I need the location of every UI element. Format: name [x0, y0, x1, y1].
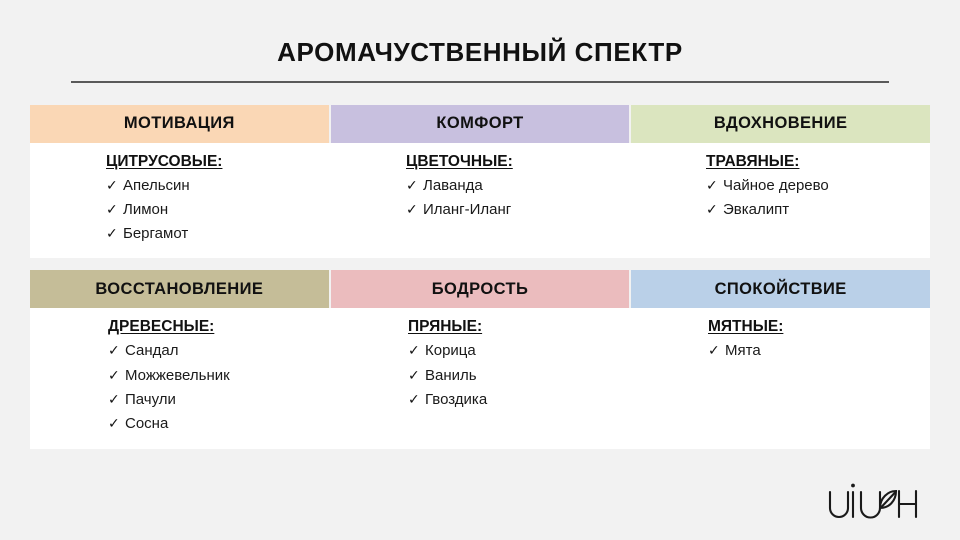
check-icon: ✓: [108, 416, 125, 430]
scent-name: Лимон: [123, 198, 168, 222]
list-item: ✓ Чайное дерево: [706, 174, 930, 198]
category-header-calm[interactable]: СПОКОЙСТВИЕ: [631, 270, 930, 308]
list-item: ✓ Мята: [708, 339, 930, 363]
scent-name: Апельсин: [123, 174, 190, 198]
scent-name: Лаванда: [423, 174, 483, 198]
list-item: ✓ Гвоздика: [408, 388, 630, 412]
category-title-recovery: ВОССТАНОВЛЕНИЕ: [95, 280, 263, 299]
check-icon: ✓: [706, 202, 723, 216]
list-item: ✓ Сандал: [108, 339, 330, 363]
scent-name: Гвоздика: [425, 388, 487, 412]
scent-name: Корица: [425, 339, 476, 363]
check-icon: ✓: [408, 392, 425, 406]
category-body-vigor: ПРЯНЫЕ: ✓ Корица ✓ Ваниль ✓ Гвоздика: [330, 308, 630, 448]
category-body-calm: МЯТНЫЕ: ✓ Мята: [630, 308, 930, 448]
scent-list-vigor: ✓ Корица ✓ Ваниль ✓ Гвоздика: [408, 339, 630, 412]
list-item: ✓ Можжевельник: [108, 364, 330, 388]
scent-name: Сосна: [125, 412, 168, 436]
check-icon: ✓: [106, 178, 123, 192]
family-label-vigor: ПРЯНЫЕ:: [408, 318, 482, 336]
scent-name: Пачули: [125, 388, 176, 412]
scent-name: Эвкалипт: [723, 198, 789, 222]
list-item: ✓ Сосна: [108, 412, 330, 436]
category-header-inspiration[interactable]: ВДОХНОВЕНИЕ: [631, 105, 930, 143]
scent-name: Мята: [725, 339, 761, 363]
category-band-row-1: МОТИВАЦИЯ КОМФОРТ ВДОХНОВЕНИЕ ЦИТРУСОВЫЕ…: [30, 105, 930, 259]
check-icon: ✓: [406, 202, 423, 216]
list-item: ✓ Иланг-Иланг: [406, 198, 630, 222]
check-icon: ✓: [708, 343, 725, 357]
category-title-vigor: БОДРОСТЬ: [432, 280, 529, 299]
check-icon: ✓: [108, 343, 125, 357]
category-band-row-2: ВОССТАНОВЛЕНИЕ БОДРОСТЬ СПОКОЙСТВИЕ ДРЕВ…: [30, 270, 930, 448]
jiah-logo-icon: [820, 478, 938, 530]
list-item: ✓ Лаванда: [406, 174, 630, 198]
category-title-inspiration: ВДОХНОВЕНИЕ: [714, 114, 848, 133]
scent-name: Бергамот: [123, 222, 188, 246]
band-2-headers: ВОССТАНОВЛЕНИЕ БОДРОСТЬ СПОКОЙСТВИЕ: [30, 270, 930, 308]
band-2-bodies: ДРЕВЕСНЫЕ: ✓ Сандал ✓ Можжевельник ✓ Пач: [30, 308, 930, 448]
check-icon: ✓: [406, 178, 423, 192]
category-body-comfort: ЦВЕТОЧНЫЕ: ✓ Лаванда ✓ Иланг-Иланг: [330, 143, 630, 259]
band-1-headers: МОТИВАЦИЯ КОМФОРТ ВДОХНОВЕНИЕ: [30, 105, 930, 143]
scent-list-inspiration: ✓ Чайное дерево ✓ Эвкалипт: [706, 174, 930, 223]
category-body-motivation: ЦИТРУСОВЫЕ: ✓ Апельсин ✓ Лимон ✓ Бергамо: [30, 143, 330, 259]
category-title-motivation: МОТИВАЦИЯ: [124, 114, 235, 133]
page-title: АРОМАЧУСТВЕННЫЙ СПЕКТР: [0, 38, 960, 67]
family-label-calm: МЯТНЫЕ:: [708, 318, 783, 336]
category-body-inspiration: ТРАВЯНЫЕ: ✓ Чайное дерево ✓ Эвкалипт: [630, 143, 930, 259]
scent-name: Иланг-Иланг: [423, 198, 511, 222]
list-item: ✓ Лимон: [106, 198, 330, 222]
family-label-inspiration: ТРАВЯНЫЕ:: [706, 153, 799, 171]
scent-name: Сандал: [125, 339, 178, 363]
scent-list-calm: ✓ Мята: [708, 339, 930, 363]
category-header-comfort[interactable]: КОМФОРТ: [331, 105, 630, 143]
family-label-recovery: ДРЕВЕСНЫЕ:: [108, 318, 214, 336]
list-item: ✓ Пачули: [108, 388, 330, 412]
list-item: ✓ Апельсин: [106, 174, 330, 198]
title-block: АРОМАЧУСТВЕННЫЙ СПЕКТР: [0, 0, 960, 83]
check-icon: ✓: [408, 343, 425, 357]
category-body-recovery: ДРЕВЕСНЫЕ: ✓ Сандал ✓ Можжевельник ✓ Пач: [30, 308, 330, 448]
check-icon: ✓: [108, 368, 125, 382]
category-header-vigor[interactable]: БОДРОСТЬ: [331, 270, 630, 308]
list-item: ✓ Корица: [408, 339, 630, 363]
check-icon: ✓: [108, 392, 125, 406]
scent-name: Можжевельник: [125, 364, 230, 388]
category-header-motivation[interactable]: МОТИВАЦИЯ: [30, 105, 329, 143]
category-title-calm: СПОКОЙСТВИЕ: [715, 280, 847, 299]
check-icon: ✓: [706, 178, 723, 192]
check-icon: ✓: [408, 368, 425, 382]
scent-list-recovery: ✓ Сандал ✓ Можжевельник ✓ Пачули ✓: [108, 339, 330, 436]
scent-list-comfort: ✓ Лаванда ✓ Иланг-Иланг: [406, 174, 630, 223]
category-header-recovery[interactable]: ВОССТАНОВЛЕНИЕ: [30, 270, 329, 308]
list-item: ✓ Бергамот: [106, 222, 330, 246]
scent-name: Ваниль: [425, 364, 477, 388]
family-label-motivation: ЦИТРУСОВЫЕ:: [106, 153, 222, 171]
list-item: ✓ Ваниль: [408, 364, 630, 388]
scent-name: Чайное дерево: [723, 174, 829, 198]
band-1-bodies: ЦИТРУСОВЫЕ: ✓ Апельсин ✓ Лимон ✓ Бергамо: [30, 143, 930, 259]
category-title-comfort: КОМФОРТ: [436, 114, 523, 133]
title-divider: [71, 81, 889, 83]
check-icon: ✓: [106, 202, 123, 216]
check-icon: ✓: [106, 226, 123, 240]
spectrum-grid: МОТИВАЦИЯ КОМФОРТ ВДОХНОВЕНИЕ ЦИТРУСОВЫЕ…: [30, 105, 930, 449]
family-label-comfort: ЦВЕТОЧНЫЕ:: [406, 153, 513, 171]
list-item: ✓ Эвкалипт: [706, 198, 930, 222]
scent-list-motivation: ✓ Апельсин ✓ Лимон ✓ Бергамот: [106, 174, 330, 247]
jiah-logo: [820, 478, 938, 530]
